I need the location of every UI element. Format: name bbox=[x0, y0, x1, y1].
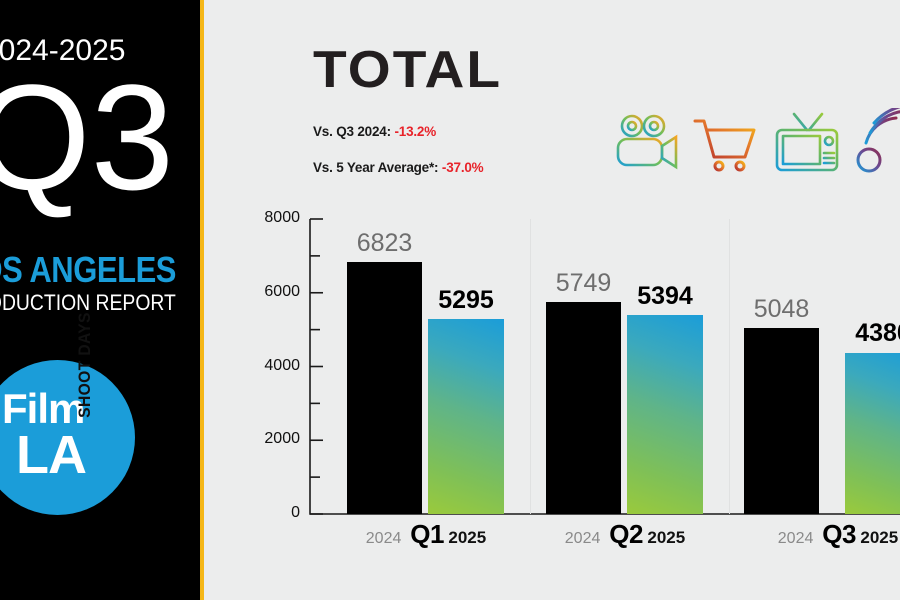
filmla-logo: Film LA bbox=[0, 360, 135, 515]
sidebar: 2024-2025 Q3 LOS ANGELES PRODUCTION REPO… bbox=[0, 0, 200, 600]
page-title: TOTAL bbox=[313, 44, 502, 96]
logo-text-film: Film bbox=[2, 388, 84, 430]
sidebar-report-subtitle: PRODUCTION REPORT bbox=[0, 292, 200, 314]
bar-value-Q3-2025: 4380 bbox=[823, 319, 900, 348]
shopping-cart-icon bbox=[690, 108, 762, 178]
x-label-quarter: Q1 bbox=[410, 519, 444, 549]
x-label-2025: 2025 bbox=[448, 528, 486, 547]
y-tick-4000: 4000 bbox=[236, 357, 300, 375]
bar-value-Q2-2024: 5749 bbox=[524, 269, 643, 298]
y-tick-8000: 8000 bbox=[236, 209, 300, 227]
x-label-2024: 2024 bbox=[778, 530, 814, 547]
x-label-2024: 2024 bbox=[366, 530, 402, 547]
y-tick-0: 0 bbox=[236, 504, 300, 522]
bar-Q1-2025 bbox=[428, 319, 504, 514]
bar-Q3-2025 bbox=[845, 353, 900, 515]
bar-Q1-2024 bbox=[347, 262, 422, 514]
bar-value-Q1-2025: 5295 bbox=[406, 286, 526, 315]
x-label-quarter: Q2 bbox=[609, 519, 643, 549]
sidebar-accent-rule bbox=[200, 0, 204, 600]
group-separator-Q1 bbox=[530, 219, 531, 514]
x-group-label-Q3: 2024 Q3 2025 bbox=[733, 519, 900, 550]
comparison-label: Vs. 5 Year Average*: bbox=[313, 160, 438, 175]
x-label-2025: 2025 bbox=[860, 528, 898, 547]
comparison-value: -37.0% bbox=[442, 160, 484, 175]
streaming-wifi-icon bbox=[852, 108, 900, 178]
x-label-2024: 2024 bbox=[565, 530, 601, 547]
x-group-label-Q1: 2024 Q1 2025 bbox=[321, 519, 531, 550]
y-tick-2000: 2000 bbox=[236, 430, 300, 448]
logo-text-la: LA bbox=[16, 428, 86, 482]
bar-value-Q3-2024: 5048 bbox=[722, 295, 841, 324]
bar-Q2-2025 bbox=[627, 315, 703, 514]
sidebar-quarter-heading: Q3 bbox=[0, 62, 200, 212]
y-tick-6000: 6000 bbox=[236, 283, 300, 301]
x-label-quarter: Q3 bbox=[822, 519, 856, 549]
group-separator-Q2 bbox=[729, 219, 730, 514]
comparison-label: Vs. Q3 2024: bbox=[313, 124, 391, 139]
television-icon bbox=[772, 108, 844, 178]
film-camera-icon bbox=[612, 108, 684, 178]
comparison-row-q3-2024: Vs. Q3 2024: -13.2% bbox=[313, 124, 436, 139]
bar-Q2-2024 bbox=[546, 302, 621, 514]
bar-Q3-2024 bbox=[744, 328, 819, 514]
comparison-value: -13.2% bbox=[394, 124, 436, 139]
sidebar-city-name: LOS ANGELES bbox=[0, 252, 184, 288]
x-group-label-Q2: 2024 Q2 2025 bbox=[520, 519, 730, 550]
comparison-row-five-year-average: Vs. 5 Year Average*: -37.0% bbox=[313, 160, 483, 175]
bar-value-Q1-2024: 6823 bbox=[325, 229, 444, 258]
x-label-2025: 2025 bbox=[647, 528, 685, 547]
bar-value-Q2-2025: 5394 bbox=[605, 282, 725, 311]
